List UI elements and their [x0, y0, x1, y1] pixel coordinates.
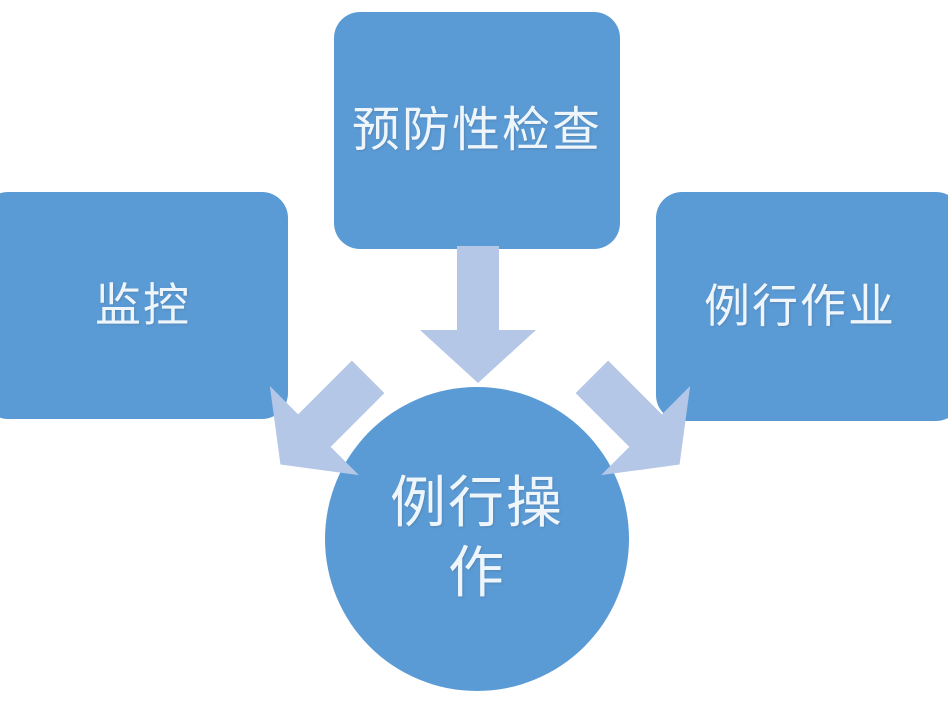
node-preventive-inspection[interactable]: 预防性检查: [334, 12, 620, 249]
node-routine-tasks[interactable]: 例行作业: [656, 192, 948, 421]
node-routine-operations-label: 例行操作: [377, 469, 577, 609]
diagram-canvas: 预防性检查 监控 例行作业 例行操作: [0, 0, 948, 705]
node-routine-tasks-label: 例行作业: [704, 279, 914, 333]
node-preventive-inspection-label: 预防性检查: [352, 102, 602, 159]
arrow-down-left-icon: [572, 357, 698, 483]
arrow-down-right-icon: [262, 357, 388, 483]
arrow-down-icon: [420, 246, 536, 383]
node-monitoring-label: 监控: [79, 278, 191, 332]
node-monitoring[interactable]: 监控: [0, 192, 288, 419]
